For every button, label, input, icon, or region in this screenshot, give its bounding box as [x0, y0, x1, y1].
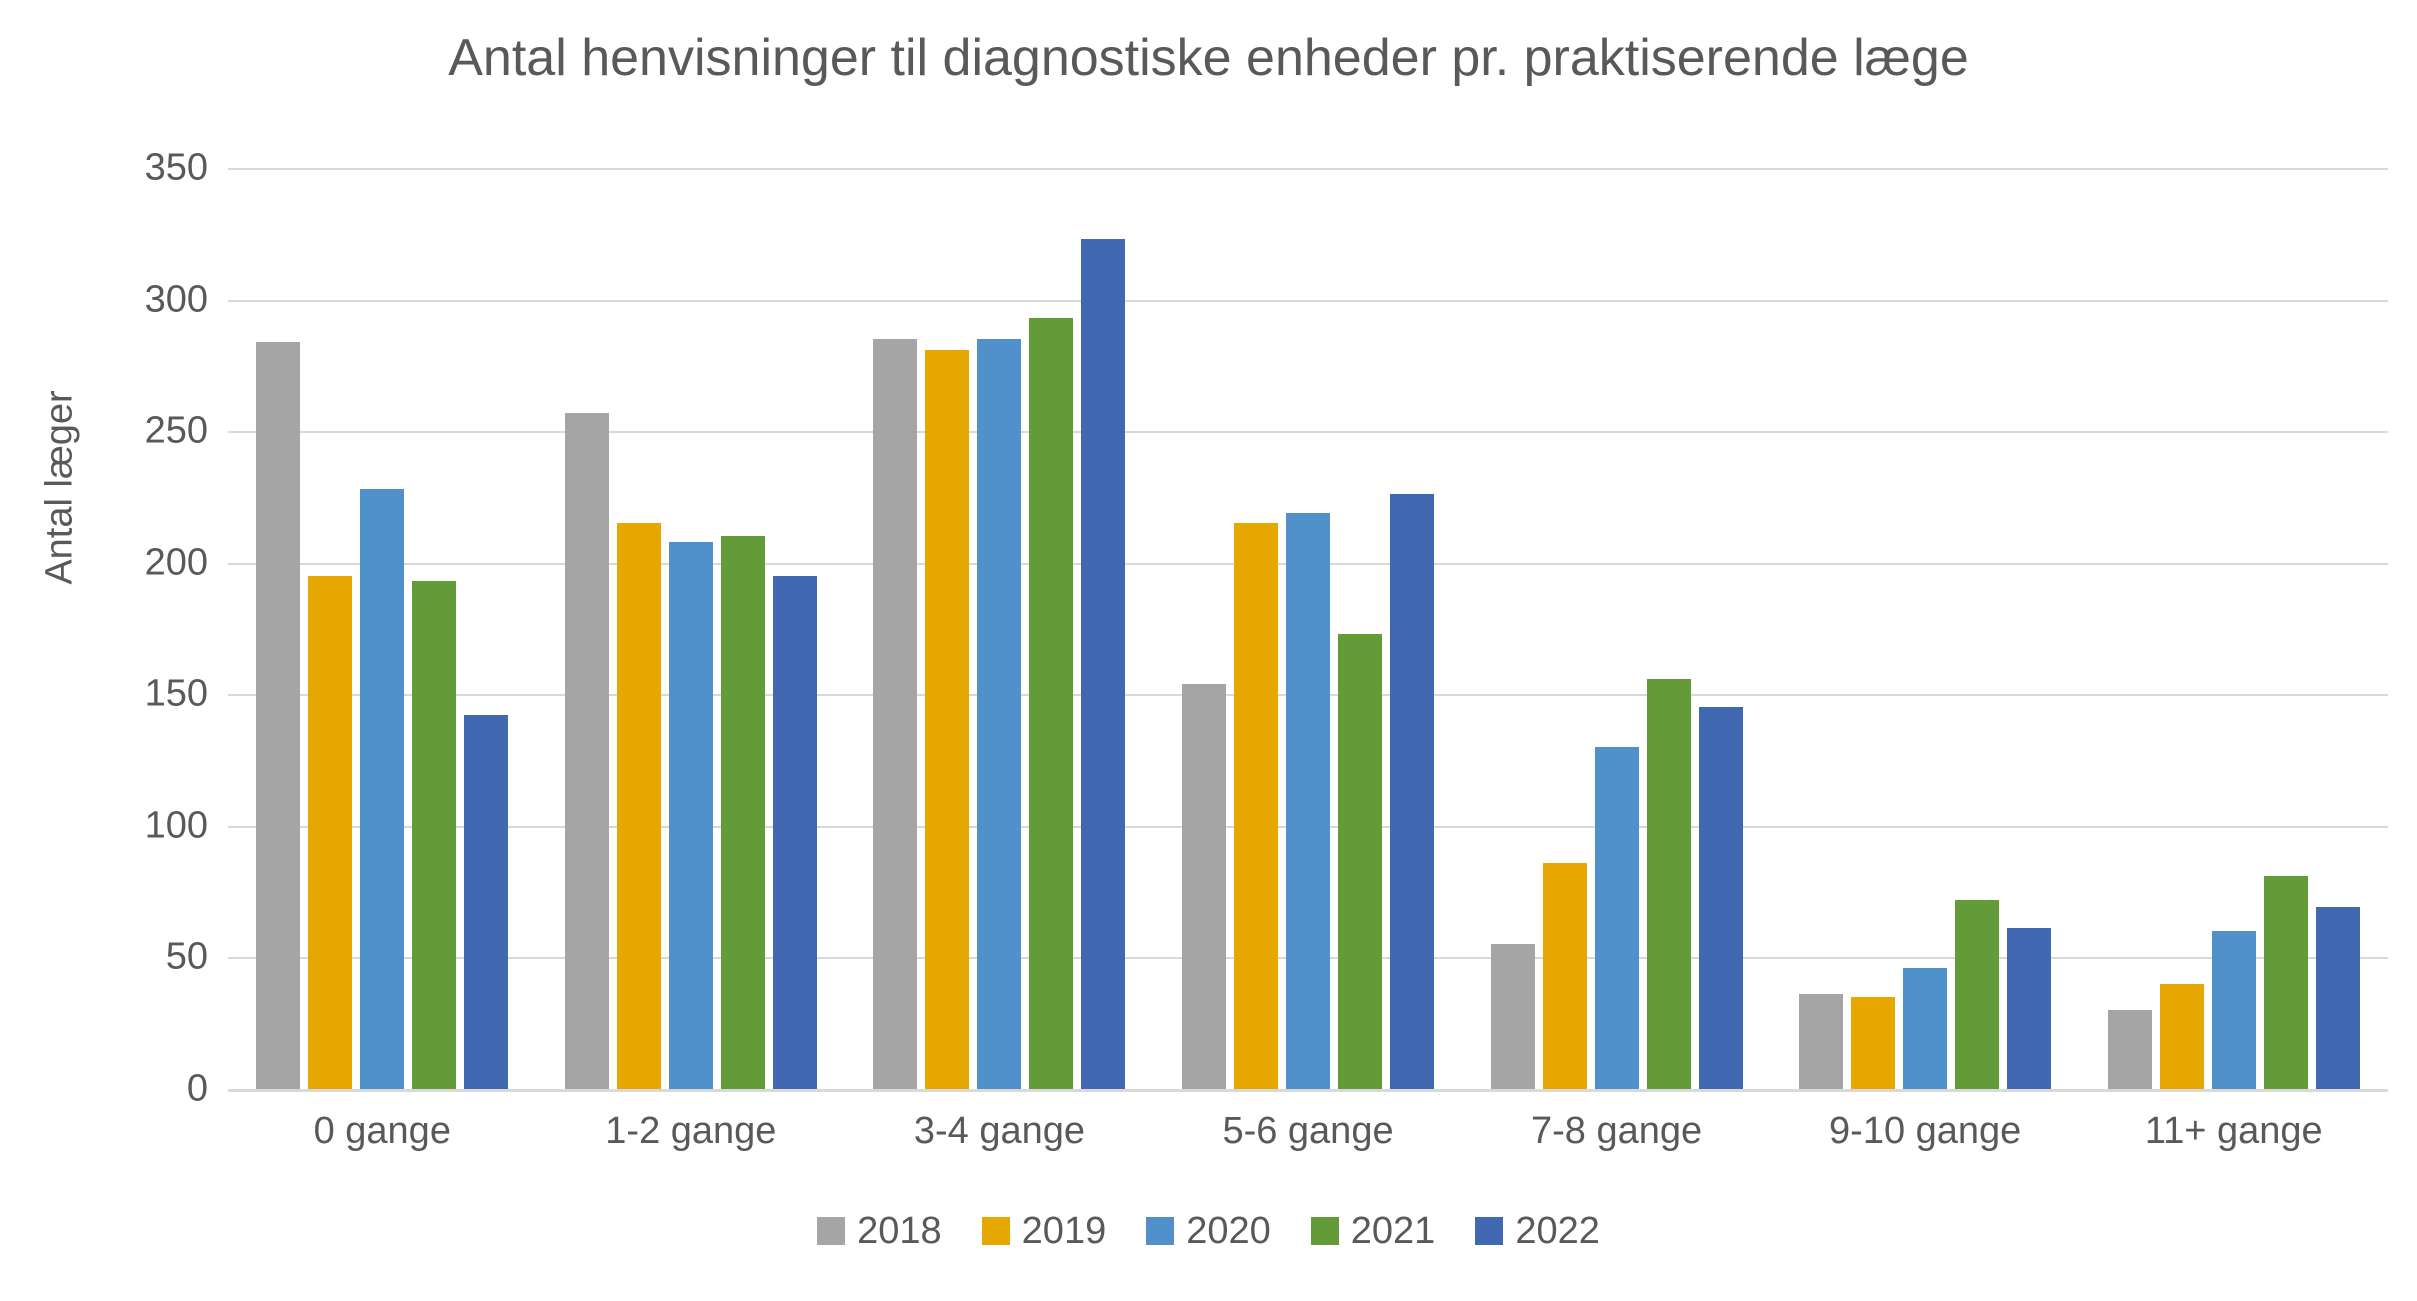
bar-2021-1-2-gange[interactable] [721, 536, 765, 1089]
bar-2019-5-6-gange[interactable] [1234, 523, 1278, 1089]
bar-2019-7-8-gange[interactable] [1543, 863, 1587, 1089]
bar-2020-7-8-gange[interactable] [1595, 747, 1639, 1089]
bar-slot [617, 168, 661, 1089]
bar-2018-5-6-gange[interactable] [1182, 684, 1226, 1089]
legend-swatch-icon [1311, 1217, 1339, 1245]
x-axis-category-labels: 0 gange1-2 gange3-4 gange5-6 gange7-8 ga… [228, 1110, 2388, 1153]
bar-2019-0-gange[interactable] [308, 576, 352, 1089]
bar-group [1771, 168, 2080, 1089]
legend-label: 2022 [1515, 1212, 1600, 1250]
bar-slot [1029, 168, 1073, 1089]
bar-group [845, 168, 1154, 1089]
y-axis-tick-label: 250 [104, 410, 208, 453]
bar-slot [669, 168, 713, 1089]
bar-groups [228, 168, 2388, 1089]
bar-slot [925, 168, 969, 1089]
y-axis-tick-label: 0 [104, 1068, 208, 1111]
bar-2018-11+-gange[interactable] [2108, 1010, 2152, 1089]
bar-group [537, 168, 846, 1089]
bar-2020-9-10-gange[interactable] [1903, 968, 1947, 1089]
bar-slot [1851, 168, 1895, 1089]
bar-2021-5-6-gange[interactable] [1338, 634, 1382, 1089]
x-axis-category-label: 1-2 gange [537, 1110, 846, 1153]
bar-2022-7-8-gange[interactable] [1699, 707, 1743, 1089]
bar-2022-0-gange[interactable] [464, 715, 508, 1089]
bar-2022-11+-gange[interactable] [2316, 907, 2360, 1089]
bar-slot [2264, 168, 2308, 1089]
bar-slot [1595, 168, 1639, 1089]
bar-slot [1286, 168, 1330, 1089]
bar-2018-0-gange[interactable] [256, 342, 300, 1089]
bar-2020-1-2-gange[interactable] [669, 542, 713, 1089]
bar-slot [1543, 168, 1587, 1089]
chart-legend: 20182019202020212022 [0, 1212, 2417, 1250]
legend-swatch-icon [982, 1217, 1010, 1245]
bar-2019-1-2-gange[interactable] [617, 523, 661, 1089]
legend-label: 2018 [857, 1212, 942, 1250]
bar-2022-5-6-gange[interactable] [1390, 494, 1434, 1089]
bar-slot [721, 168, 765, 1089]
bar-2022-3-4-gange[interactable] [1081, 239, 1125, 1089]
bar-group [1154, 168, 1463, 1089]
bar-2018-3-4-gange[interactable] [873, 339, 917, 1089]
bar-slot [1234, 168, 1278, 1089]
legend-label: 2020 [1186, 1212, 1271, 1250]
bar-2018-7-8-gange[interactable] [1491, 944, 1535, 1089]
bar-slot [1182, 168, 1226, 1089]
bar-slot [1647, 168, 1691, 1089]
bar-2018-1-2-gange[interactable] [565, 413, 609, 1089]
bar-slot [256, 168, 300, 1089]
bar-2022-1-2-gange[interactable] [773, 576, 817, 1089]
bar-slot [2316, 168, 2360, 1089]
bar-2018-9-10-gange[interactable] [1799, 994, 1843, 1089]
bar-slot [360, 168, 404, 1089]
bar-slot [1081, 168, 1125, 1089]
bar-group [2079, 168, 2388, 1089]
bar-slot [464, 168, 508, 1089]
chart-title: Antal henvisninger til diagnostiske enhe… [0, 28, 2417, 88]
bar-2022-9-10-gange[interactable] [2007, 928, 2051, 1089]
legend-item-2018[interactable]: 2018 [817, 1212, 942, 1250]
bar-slot [1338, 168, 1382, 1089]
bar-slot [308, 168, 352, 1089]
bar-2020-11+-gange[interactable] [2212, 931, 2256, 1089]
y-axis-tick-label: 350 [104, 147, 208, 190]
legend-swatch-icon [1475, 1217, 1503, 1245]
legend-item-2021[interactable]: 2021 [1311, 1212, 1436, 1250]
x-axis-category-label: 11+ gange [2079, 1110, 2388, 1153]
legend-swatch-icon [1146, 1217, 1174, 1245]
bar-group [228, 168, 537, 1089]
bar-2020-0-gange[interactable] [360, 489, 404, 1089]
legend-item-2022[interactable]: 2022 [1475, 1212, 1600, 1250]
plot-area [228, 168, 2388, 1089]
legend-swatch-icon [817, 1217, 845, 1245]
bar-2021-0-gange[interactable] [412, 581, 456, 1089]
y-axis-tick-label: 150 [104, 673, 208, 716]
bar-slot [977, 168, 1021, 1089]
bar-slot [2007, 168, 2051, 1089]
bar-2021-3-4-gange[interactable] [1029, 318, 1073, 1089]
y-axis-tick-label: 300 [104, 278, 208, 321]
bar-slot [565, 168, 609, 1089]
legend-item-2019[interactable]: 2019 [982, 1212, 1107, 1250]
y-axis-title: Antal læger [39, 318, 82, 658]
bar-2019-11+-gange[interactable] [2160, 984, 2204, 1089]
x-axis-category-label: 9-10 gange [1771, 1110, 2080, 1153]
legend-item-2020[interactable]: 2020 [1146, 1212, 1271, 1250]
x-axis-category-label: 7-8 gange [1462, 1110, 1771, 1153]
bar-slot [1491, 168, 1535, 1089]
bar-2021-7-8-gange[interactable] [1647, 679, 1691, 1090]
bar-2020-5-6-gange[interactable] [1286, 513, 1330, 1089]
y-axis-tick-label: 200 [104, 541, 208, 584]
x-axis-category-label: 5-6 gange [1154, 1110, 1463, 1153]
bar-2021-9-10-gange[interactable] [1955, 900, 1999, 1089]
y-axis-tick-label: 50 [104, 936, 208, 979]
x-axis-category-label: 0 gange [228, 1110, 537, 1153]
y-axis-tick-label: 100 [104, 804, 208, 847]
bar-slot [2212, 168, 2256, 1089]
bar-slot [1699, 168, 1743, 1089]
bar-2019-3-4-gange[interactable] [925, 350, 969, 1089]
bar-slot [2160, 168, 2204, 1089]
x-axis-category-label: 3-4 gange [845, 1110, 1154, 1153]
bar-2021-11+-gange[interactable] [2264, 876, 2308, 1089]
legend-label: 2021 [1351, 1212, 1436, 1250]
bar-2019-9-10-gange[interactable] [1851, 997, 1895, 1089]
legend-label: 2019 [1022, 1212, 1107, 1250]
bar-group [1462, 168, 1771, 1089]
bar-slot [1390, 168, 1434, 1089]
bar-slot [773, 168, 817, 1089]
bar-chart: Antal henvisninger til diagnostiske enhe… [0, 0, 2417, 1301]
bar-2020-3-4-gange[interactable] [977, 339, 1021, 1089]
bar-slot [873, 168, 917, 1089]
bar-slot [412, 168, 456, 1089]
bar-slot [1903, 168, 1947, 1089]
gridline [228, 1089, 2388, 1092]
bar-slot [1799, 168, 1843, 1089]
bar-slot [1955, 168, 1999, 1089]
bar-slot [2108, 168, 2152, 1089]
